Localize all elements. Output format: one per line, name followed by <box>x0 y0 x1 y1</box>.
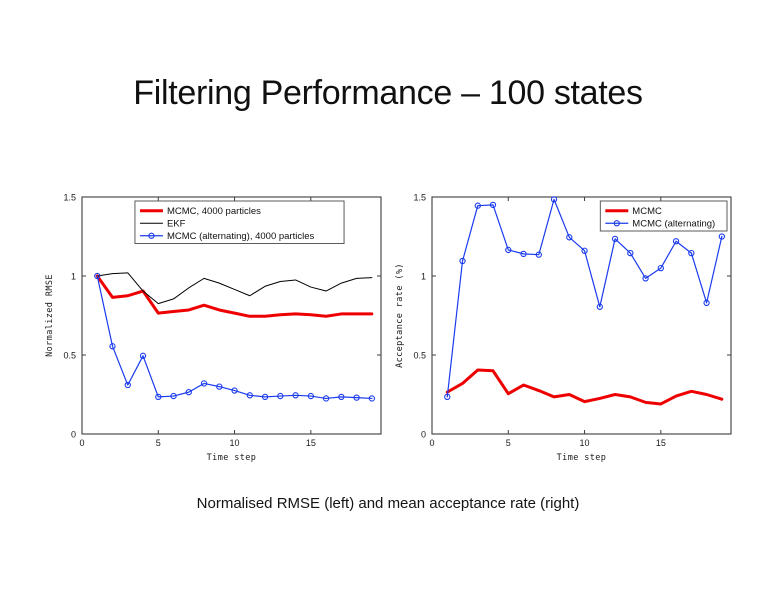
x-tick-label: 0 <box>79 438 84 448</box>
y-tick-label: 0.5 <box>63 350 76 360</box>
x-tick-label: 10 <box>230 438 240 448</box>
y-tick-label: 0.5 <box>413 350 426 360</box>
figure-caption: Normalised RMSE (left) and mean acceptan… <box>0 495 776 512</box>
x-tick-label: 15 <box>656 438 666 448</box>
x-tick-label: 5 <box>156 438 161 448</box>
x-axis-title: Time step <box>207 453 257 463</box>
legend-label: EKF <box>167 219 186 230</box>
chart-panel-acceptance-rate: 05101500.511.5Time stepAcceptance rate (… <box>388 180 738 470</box>
legend-label: MCMC (alternating), 4000 particles <box>167 231 315 242</box>
chart-normalized-rmse: 05101500.511.5Time stepNormalized RMSEMC… <box>38 180 388 470</box>
legend-label: MCMC <box>632 206 662 217</box>
chart-acceptance-rate: 05101500.511.5Time stepAcceptance rate (… <box>388 180 738 470</box>
chart-legend: MCMCMCMC (alternating) <box>600 201 727 231</box>
x-tick-label: 0 <box>429 438 434 448</box>
y-tick-label: 0 <box>71 429 76 439</box>
chart-legend: MCMC, 4000 particlesEKFMCMC (alternating… <box>135 201 344 244</box>
y-axis-title: Normalized RMSE <box>45 274 55 357</box>
y-tick-label: 1.5 <box>413 192 426 202</box>
slide-canvas: Filtering Performance – 100 states 05101… <box>0 0 776 600</box>
y-tick-label: 0 <box>421 429 426 439</box>
figure-area: 05101500.511.5Time stepNormalized RMSEMC… <box>38 180 738 470</box>
x-tick-label: 10 <box>580 438 590 448</box>
x-tick-label: 15 <box>306 438 316 448</box>
x-tick-label: 5 <box>506 438 511 448</box>
y-axis-title: Acceptance rate (%) <box>395 263 405 368</box>
legend-label: MCMC, 4000 particles <box>167 206 261 217</box>
plot-frame <box>432 197 731 434</box>
y-tick-label: 1 <box>421 271 426 281</box>
chart-panel-normalized-rmse: 05101500.511.5Time stepNormalized RMSEMC… <box>38 180 388 470</box>
page-title: Filtering Performance – 100 states <box>0 74 776 113</box>
y-tick-label: 1 <box>71 271 76 281</box>
x-axis-title: Time step <box>557 453 607 463</box>
legend-label: MCMC (alternating) <box>632 219 715 230</box>
y-tick-label: 1.5 <box>63 192 76 202</box>
